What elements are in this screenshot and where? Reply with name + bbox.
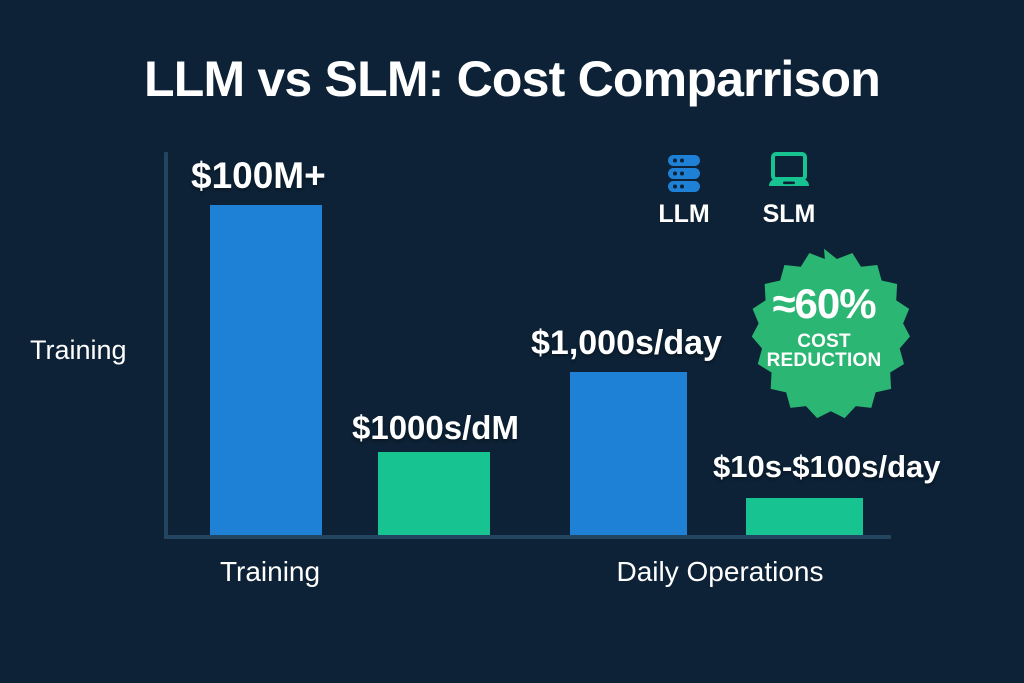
bar-value-training-llm: $100M+ <box>191 155 326 197</box>
legend-item-slm[interactable]: SLM <box>744 146 834 227</box>
bar-daily-operations-llm[interactable] <box>570 372 687 535</box>
legend-label-slm: SLM <box>744 202 834 227</box>
badge-subtext: COST REDUCTION <box>767 332 882 370</box>
badge-headline: ≈60% <box>772 283 875 325</box>
badge-text-block: ≈60% COST REDUCTION <box>738 247 910 405</box>
page-title: LLM vs SLM: Cost Comparrison <box>0 50 1024 108</box>
bar-training-llm[interactable] <box>210 205 322 535</box>
x-axis-tick-daily-operations: Daily Operations <box>600 556 840 588</box>
server-icon <box>639 146 729 198</box>
bar-value-daily-operations-llm: $1,000s/day <box>531 324 722 363</box>
chart-canvas: LLM vs SLM: Cost Comparrison Training Tr… <box>0 0 1024 683</box>
badge-subtext-line1: COST <box>797 331 851 352</box>
y-axis-line <box>164 152 168 539</box>
x-axis-line <box>164 535 891 539</box>
bar-value-training-slm: $1000s/dM <box>352 409 519 447</box>
laptop-icon <box>744 146 834 198</box>
badge-subtext-line2: REDUCTION <box>767 351 882 370</box>
bar-training-slm[interactable] <box>378 452 490 535</box>
legend-item-llm[interactable]: LLM <box>639 146 729 227</box>
legend-label-llm: LLM <box>639 202 729 227</box>
cost-reduction-badge: ≈60% COST REDUCTION <box>738 247 910 405</box>
bar-value-daily-operations-slm: $10s-$100s/day <box>713 449 941 485</box>
x-axis-tick-training: Training <box>160 556 380 588</box>
y-axis-label: Training <box>30 335 127 366</box>
bar-daily-operations-slm[interactable] <box>746 498 863 535</box>
